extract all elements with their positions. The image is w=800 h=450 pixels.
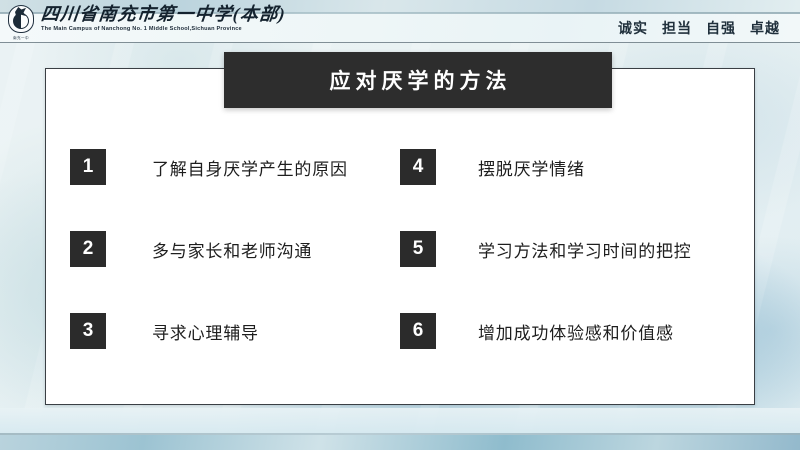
list-item: 4 摆脱厌学情绪 [400,126,755,208]
list-item-label: 摆脱厌学情绪 [478,155,585,180]
school-crest-icon: 南充一中 [6,5,36,41]
list-item-number-badge: 2 [70,231,106,267]
motto-word-2: 担当 [662,18,692,38]
list-item: 5 学习方法和学习时间的把控 [400,208,755,290]
list-item: 6 增加成功体验感和价值感 [400,290,755,372]
list-item-number-badge: 5 [400,231,436,267]
school-logo: 南充一中 四川省南充市第一中学(本部) The Main Campus of N… [6,2,256,42]
method-list: 1 了解自身厌学产生的原因 4 摆脱厌学情绪 2 多与家长和老师沟通 5 学习方… [45,68,755,405]
list-item-label: 学习方法和学习时间的把控 [478,237,692,262]
list-item-label: 寻求心理辅导 [152,319,259,344]
motto-word-4: 卓越 [750,18,780,38]
crest-yinyang-icon [13,13,29,29]
school-motto: 诚实 担当 自强 卓越 [618,15,780,41]
list-item-number-badge: 6 [400,313,436,349]
slide-root: 南充一中 四川省南充市第一中学(本部) The Main Campus of N… [0,0,800,450]
title-banner: 应对厌学的方法 [224,52,612,108]
list-item-label: 了解自身厌学产生的原因 [152,155,348,180]
motto-word-3: 自强 [706,18,736,38]
list-item: 2 多与家长和老师沟通 [45,208,400,290]
motto-word-1: 诚实 [618,18,648,38]
list-item-label: 多与家长和老师沟通 [152,237,312,262]
header-divider [0,42,800,43]
list-item-number-badge: 3 [70,313,106,349]
list-item-number-badge: 4 [400,149,436,185]
bottom-decoration-band [0,435,800,450]
list-item-label: 增加成功体验感和价值感 [478,319,674,344]
school-name-cn: 四川省南充市第一中学(本部) [40,4,287,24]
list-item-number-badge: 1 [70,149,106,185]
school-logo-text: 四川省南充市第一中学(本部) The Main Campus of Nancho… [41,2,286,34]
list-item: 3 寻求心理辅导 [45,290,400,372]
crest-ribbon-label: 南充一中 [6,35,36,42]
list-item: 1 了解自身厌学产生的原因 [45,126,400,208]
page-title: 应对厌学的方法 [325,65,512,95]
school-name-en: The Main Campus of Nanchong No. 1 Middle… [41,25,286,34]
bottom-soft-band [0,408,800,435]
